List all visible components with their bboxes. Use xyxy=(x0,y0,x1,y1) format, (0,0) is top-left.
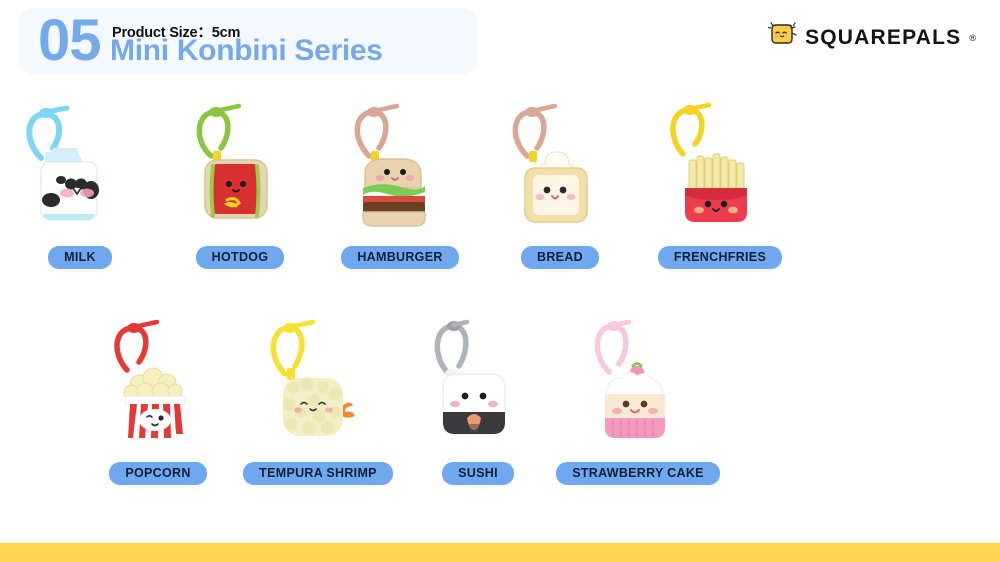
trademark-symbol: ® xyxy=(969,33,976,43)
product-label-milk: MILK xyxy=(48,246,112,269)
product-card-popcorn[interactable]: POPCORN xyxy=(78,312,238,485)
squarepals-mascot-icon xyxy=(768,22,798,53)
product-card-tempura-shrimp[interactable]: TEMPURA SHRIMP xyxy=(238,312,398,485)
product-image-sushi xyxy=(403,312,553,454)
product-card-sushi[interactable]: SUSHI xyxy=(398,312,558,485)
product-label-strawberry-cake: STRAWBERRY CAKE xyxy=(556,462,720,485)
page-title: Mini Konbini Series xyxy=(110,34,383,68)
product-label-bread: BREAD xyxy=(521,246,599,269)
product-image-tempura-shrimp xyxy=(243,312,393,454)
product-image-milk xyxy=(5,96,155,238)
product-label-frenchfries: FRENCHFRIES xyxy=(658,246,782,269)
product-image-strawberry-cake xyxy=(563,312,713,454)
product-image-frenchfries xyxy=(645,96,795,238)
product-row-1: MILK HOTDOG xyxy=(0,96,1000,269)
product-label-popcorn: POPCORN xyxy=(109,462,206,485)
product-card-frenchfries[interactable]: FRENCHFRIES xyxy=(640,96,800,269)
product-image-hotdog xyxy=(165,96,315,238)
product-card-bread[interactable]: BREAD xyxy=(480,96,640,269)
section-number: 05 xyxy=(38,12,101,70)
product-label-hotdog: HOTDOG xyxy=(196,246,285,269)
product-image-popcorn xyxy=(83,312,233,454)
product-image-hamburger xyxy=(325,96,475,238)
brand-name-text: SQUAREPALS xyxy=(805,26,961,50)
bottom-accent-bar xyxy=(0,543,1000,562)
product-image-bread xyxy=(485,96,635,238)
product-row-2: POPCORN xyxy=(78,312,1000,485)
product-card-milk[interactable]: MILK xyxy=(0,96,160,269)
page-header: 05 Product Size：5cm Mini Konbini Series … xyxy=(0,0,1000,88)
brand-logo: SQUAREPALS ® xyxy=(768,22,976,53)
product-label-tempura-shrimp: TEMPURA SHRIMP xyxy=(243,462,393,485)
product-card-hotdog[interactable]: HOTDOG xyxy=(160,96,320,269)
product-card-strawberry-cake[interactable]: STRAWBERRY CAKE xyxy=(558,312,718,485)
product-label-hamburger: HAMBURGER xyxy=(341,246,458,269)
product-card-hamburger[interactable]: HAMBURGER xyxy=(320,96,480,269)
product-label-sushi: SUSHI xyxy=(442,462,514,485)
